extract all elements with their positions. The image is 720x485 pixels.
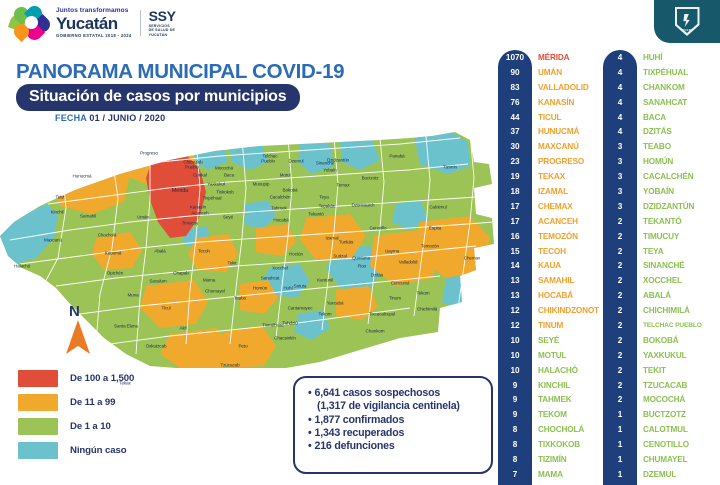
bullet-icon: •: [308, 414, 312, 426]
case-count: 1070: [498, 53, 532, 62]
case-count: 9: [498, 395, 532, 404]
case-count: 2: [603, 217, 637, 226]
case-count: 23: [498, 157, 532, 166]
case-count: 10: [498, 351, 532, 360]
map-label: Dzidzantún: [327, 158, 349, 163]
list-item: 4DZITÁS: [603, 124, 713, 139]
municipality-name: TEYA: [643, 247, 663, 256]
municipality-name: DZEMUL: [643, 470, 676, 479]
north-arrow-indicator: N: [63, 303, 93, 355]
case-count: 13: [498, 276, 532, 285]
map-label: Dzemul: [289, 159, 304, 164]
bullet-icon: •: [308, 387, 312, 399]
list-item: 2BOKOBÁ: [603, 333, 713, 348]
map-label: Dzoncauich: [351, 203, 374, 208]
list-item: 2TEKANTÓ: [603, 214, 713, 229]
page-title: PANORAMA MUNICIPAL COVID-19: [16, 60, 344, 84]
list-item: 2CHICHIMILÁ: [603, 303, 713, 318]
municipality-name: TINUM: [538, 321, 563, 330]
list-item: 1DZEMUL: [603, 467, 713, 482]
map-label: Hoctún: [289, 252, 303, 257]
gov-tab-label: GOBIERNO: [675, 28, 700, 32]
map-label: Yaxcabá: [327, 301, 344, 306]
map-label: Sacalum: [149, 279, 166, 284]
map-label: Maxcanú: [44, 238, 62, 243]
case-count: 2: [603, 306, 637, 315]
map-label: Pueblo: [185, 165, 199, 170]
map-label: Opichén: [107, 271, 123, 276]
case-count: 19: [498, 172, 532, 181]
case-count: 4: [603, 127, 637, 136]
legend-color-swatch: [18, 394, 58, 411]
legend-item: De 100 a 1,500: [18, 370, 134, 387]
case-count: 7: [498, 470, 532, 479]
map-label: Tahmek: [271, 206, 286, 211]
list-item: 4CHANKOM: [603, 80, 713, 95]
list-item: 76KANASÍN: [498, 95, 608, 110]
list-item: 12TINUM: [498, 318, 608, 333]
map-label: Temozón: [421, 244, 439, 249]
map-label: Panabá: [389, 154, 404, 159]
list-item: 1070MÉRIDA: [498, 50, 608, 65]
map-label: Chankom: [366, 329, 385, 334]
municipality-name: DZIDZANTÚN: [643, 202, 694, 211]
list-item: 19TEKAX: [498, 169, 608, 184]
map-label: Umán: [137, 215, 149, 220]
case-count: 10: [498, 336, 532, 345]
municipality-name: HOMÚN: [643, 157, 673, 166]
map-label: Seyé: [223, 215, 233, 220]
municipality-name: MAMA: [538, 470, 563, 479]
municipality-name: KANASÍN: [538, 98, 574, 107]
legend-label: De 11 a 99: [70, 397, 115, 408]
list-item: 8CHOCHOLÁ: [498, 422, 608, 437]
header-bar: Juntos transformamos Yucatán GOBIERNO ES…: [0, 0, 720, 45]
map-label: Progreso: [140, 151, 158, 156]
case-count: 4: [603, 98, 637, 107]
list-item: 1CALOTMUL: [603, 422, 713, 437]
list-item: 4TIXPÉHUAL: [603, 65, 713, 80]
list-item: 10MOTUL: [498, 348, 608, 363]
map-label: Tepakán: [319, 204, 336, 209]
list-item: 4BACA: [603, 110, 713, 125]
municipality-name: MOTUL: [538, 351, 566, 360]
case-count: 4: [603, 83, 637, 92]
map-label: Xocchel: [272, 266, 288, 271]
municipality-name: KAUA: [538, 261, 561, 270]
municipality-name: BUCTZOTZ: [643, 410, 686, 419]
list-item: 10HALACHÓ: [498, 363, 608, 378]
logo-state-name: Yucatán: [56, 15, 132, 32]
map-label: Tixcacalcupul: [369, 312, 395, 317]
map-label: Tecoh: [198, 249, 210, 254]
bullet-icon: •: [308, 440, 312, 452]
map-label: Quintana: [352, 256, 370, 261]
case-count: 2: [603, 395, 637, 404]
case-count: 2: [603, 276, 637, 285]
map-label: Buctzotz: [362, 176, 379, 181]
municipality-name: TIXKOKOB: [538, 440, 580, 449]
map-label: Tzucacab: [220, 363, 239, 368]
municipality-name: TEMOZÓN: [538, 232, 578, 241]
map-label: Samahil: [80, 214, 96, 219]
map-label: Kantunil: [317, 278, 333, 283]
list-item: 14KAUA: [498, 258, 608, 273]
list-item: 3DZIDZANTÚN: [603, 199, 713, 214]
map-label: Hunucmá: [73, 174, 92, 179]
map-label: Tizimín: [443, 165, 457, 170]
stat-confirmed: •1,877 confirmados: [308, 414, 481, 427]
list-item: 90UMÁN: [498, 65, 608, 80]
map-label: Roo: [358, 264, 366, 269]
list-item: 17CHEMAX: [498, 199, 608, 214]
compass-arrow-icon: [66, 320, 90, 354]
map-label: Sotuta: [294, 284, 307, 289]
logo-divider: [140, 10, 141, 36]
municipality-list-column-1: 1070MÉRIDA90UMÁN83VALLADOLID76KANASÍN44T…: [498, 50, 608, 485]
municipality-name: CHEMAX: [538, 202, 573, 211]
ssy-logo: SSY SERVICIOS DE SALUD DE YUCATÁN: [149, 9, 176, 38]
legend-color-swatch: [18, 442, 58, 459]
list-item: 12CHIKINDZONOT: [498, 303, 608, 318]
municipality-name: TAHMEK: [538, 395, 572, 404]
case-count: 3: [603, 202, 637, 211]
municipality-name: CHUMAYEL: [643, 455, 687, 464]
case-count: 12: [498, 306, 532, 315]
municipality-name: TIZIMÍN: [538, 455, 567, 464]
map-label: Baca: [224, 173, 234, 178]
map-label: Cacalchén: [270, 195, 291, 200]
map-label: Tixpéhual: [203, 196, 222, 201]
map-label: Tahdziú: [282, 321, 297, 326]
case-count: 1: [603, 470, 637, 479]
logo-administration-period: GOBIERNO ESTATAL 2018 - 2024: [56, 34, 132, 38]
case-count: 44: [498, 113, 532, 122]
case-count: 1: [603, 425, 637, 434]
map-label: Tunkás: [339, 240, 353, 245]
map-label: Muna: [127, 293, 138, 298]
municipality-name: PROGRESO: [538, 157, 584, 166]
map-label: Tixméhuac: [262, 323, 283, 328]
case-count: 2: [603, 351, 637, 360]
map-label: Peto: [238, 344, 247, 349]
list-item: 2SINANCHÉ: [603, 258, 713, 273]
list-item: 1BUCTZOTZ: [603, 407, 713, 422]
map-label: Bokobá: [283, 188, 298, 193]
case-count: 9: [498, 410, 532, 419]
map-label: Tinum: [389, 296, 401, 301]
list-item: 23PROGRESO: [498, 154, 608, 169]
map-label: Pueblo: [261, 159, 275, 164]
list-item: 2TEKIT: [603, 363, 713, 378]
municipality-name: TICUL: [538, 113, 561, 122]
legend-label: De 100 a 1,500: [70, 373, 134, 384]
map-label: Tixkokob: [216, 190, 233, 195]
map-label: Halachó: [14, 264, 30, 269]
map-label: Akil: [179, 326, 186, 331]
list-item: 2MOCOCHÁ: [603, 392, 713, 407]
list-item: 3TEABO: [603, 139, 713, 154]
municipality-name: HUNUCMÁ: [538, 127, 579, 136]
map-label: Uayma: [385, 249, 399, 254]
municipality-name: CALOTMUL: [643, 425, 688, 434]
municipality-name: CHOCHOLÁ: [538, 425, 584, 434]
case-count: 12: [498, 321, 532, 330]
municipality-name: DZITÁS: [643, 127, 672, 136]
municipality-name: ABALÁ: [643, 291, 671, 300]
case-count: 1: [603, 455, 637, 464]
map-label: Sudzal: [333, 254, 346, 259]
map-label: Mocochá: [215, 166, 233, 171]
case-count: 8: [498, 440, 532, 449]
map-label: Tekom: [318, 312, 331, 317]
ssy-acronym: SSY: [149, 9, 176, 23]
stat-deaths: •216 defunciones: [308, 440, 481, 453]
map-label: Huhí: [283, 286, 292, 291]
legend-color-swatch: [18, 418, 58, 435]
map-label: Kopomá: [105, 251, 122, 256]
municipality-name: SINANCHÉ: [643, 261, 685, 270]
case-count: 9: [498, 381, 532, 390]
municipality-name: TEKANTÓ: [643, 217, 682, 226]
municipality-name: MAXCANÚ: [538, 142, 579, 151]
case-count: 3: [603, 157, 637, 166]
map-label: Hocabá: [273, 218, 288, 223]
municipality-name: MÉRIDA: [538, 53, 569, 62]
case-count: 2: [603, 336, 637, 345]
legend-label: De 1 a 10: [70, 421, 111, 432]
list-item: 9TAHMEK: [498, 392, 608, 407]
list-item: 8TIZIMÍN: [498, 452, 608, 467]
stat-sentinel: (1,317 de vigilancia centinela): [308, 400, 481, 413]
map-label: Conkal: [193, 173, 207, 178]
legend-item: De 1 a 10: [18, 418, 134, 435]
list-item: 4HUHÍ: [603, 50, 713, 65]
list-item: 2TELCHAC PUEBLO: [603, 318, 713, 333]
municipality-name: BOKOBÁ: [643, 336, 679, 345]
municipality-name: ACANCEH: [538, 217, 578, 226]
map-label: Temax: [336, 183, 349, 188]
municipality-name: IZAMAL: [538, 187, 568, 196]
case-count: 2: [603, 381, 637, 390]
list-item: 3HOMÚN: [603, 154, 713, 169]
case-count: 4: [603, 53, 637, 62]
municipality-name: VALLADOLID: [538, 83, 589, 92]
case-count: 3: [603, 142, 637, 151]
map-label: Yobaín: [323, 168, 337, 173]
page-subtitle: Situación de casos por municipios: [16, 84, 300, 111]
case-count: 10: [498, 366, 532, 375]
list-item: 8TIXKOKOB: [498, 437, 608, 452]
map-label: Izamal: [326, 236, 339, 241]
map-label: Chocholá: [98, 233, 117, 238]
case-count: 4: [603, 113, 637, 122]
map-label: Chapab: [173, 271, 189, 276]
map-label: Chichimilá: [417, 307, 437, 312]
case-count: 15: [498, 247, 532, 256]
case-count: 37: [498, 127, 532, 136]
list-item: 30MAXCANÚ: [498, 139, 608, 154]
municipality-name: HUHÍ: [643, 53, 662, 62]
map-label: Tekom: [416, 291, 429, 296]
map-label: Oxkutzcab: [146, 344, 167, 349]
municipality-name: HOCABÁ: [538, 291, 573, 300]
list-item: 13HOCABÁ: [498, 288, 608, 303]
municipality-list-column-2: 4HUHÍ4TIXPÉHUAL4CHANKOM4SANAHCAT4BACA4DZ…: [603, 50, 713, 485]
case-count: 8: [498, 425, 532, 434]
case-count: 2: [603, 247, 637, 256]
list-item: 37HUNUCMÁ: [498, 124, 608, 139]
yucatan-government-logo: Juntos transformamos Yucatán GOBIERNO ES…: [14, 6, 176, 40]
pinwheel-icon: [14, 6, 50, 40]
shield-icon: GOBIERNO: [675, 7, 700, 36]
case-count: 3: [603, 187, 637, 196]
municipality-name: TELCHAC PUEBLO: [643, 322, 702, 329]
municipality-name: TIXPÉHUAL: [643, 68, 688, 77]
municipality-name: TEKOM: [538, 410, 567, 419]
list-item: 2ABALÁ: [603, 288, 713, 303]
list-item: 18IZAMAL: [498, 184, 608, 199]
case-count: 18: [498, 187, 532, 196]
list-item: 17ACANCEH: [498, 214, 608, 229]
map-label: Timucuy: [182, 221, 199, 226]
municipality-name: SEYÉ: [538, 336, 559, 345]
map-label: Muxupip: [253, 182, 270, 187]
list-item: 3YOBAÍN: [603, 184, 713, 199]
map-label: Kinchil: [51, 210, 64, 215]
map-label: Chemax: [464, 256, 481, 261]
list-rows-2: 4HUHÍ4TIXPÉHUAL4CHANKOM4SANAHCAT4BACA4DZ…: [603, 50, 713, 485]
list-item: 3CACALCHÉN: [603, 169, 713, 184]
municipality-name: XOCCHEL: [643, 276, 682, 285]
case-count: 17: [498, 217, 532, 226]
municipality-name: TIMUCUY: [643, 232, 679, 241]
ssy-line-3: YUCATÁN: [149, 34, 176, 38]
municipality-name: CHANKOM: [643, 83, 685, 92]
list-item: 16TEMOZÓN: [498, 229, 608, 244]
shield-emblem-icon: [683, 14, 692, 27]
summary-statistics-box: •6,641 casos sospechosos (1,317 de vigil…: [293, 376, 493, 474]
map-label: Chumayel: [205, 289, 225, 294]
list-item: 2XOCCHEL: [603, 273, 713, 288]
municipality-name: TEKIT: [643, 366, 666, 375]
municipality-name: SANAHCAT: [643, 98, 687, 107]
map-label: Kanasín: [190, 205, 206, 210]
case-count: 30: [498, 142, 532, 151]
municipality-name: BACA: [643, 113, 666, 122]
case-count: 14: [498, 261, 532, 270]
list-item: 9TEKOM: [498, 407, 608, 422]
list-item: 2TZUCACAB: [603, 378, 713, 393]
map-label: Santa Elena: [114, 324, 138, 329]
municipality-name: CACALCHÉN: [643, 172, 694, 181]
list-item: 10SEYÉ: [498, 333, 608, 348]
case-count: 2: [603, 291, 637, 300]
list-item: 4SANAHCAT: [603, 95, 713, 110]
case-count: 4: [603, 68, 637, 77]
case-count: 76: [498, 98, 532, 107]
municipality-name: MOCOCHÁ: [643, 395, 685, 404]
case-count: 17: [498, 202, 532, 211]
municipality-name: SAMAHIL: [538, 276, 574, 285]
map-legend: De 100 a 1,500De 11 a 99De 1 a 10Ningún …: [18, 370, 134, 466]
map-label: Tekit: [228, 261, 237, 266]
municipality-name: CHICHIMILÁ: [643, 306, 690, 315]
stat-suspected: •6,641 casos sospechosos: [308, 387, 481, 400]
list-item: 9KINCHIL: [498, 378, 608, 393]
stat-recovered: •1,343 recuperados: [308, 427, 481, 440]
legend-item: Ningún caso: [18, 442, 134, 459]
case-count: 16: [498, 232, 532, 241]
case-count: 83: [498, 83, 532, 92]
map-label: Dzitás: [371, 273, 383, 278]
municipality-name: TEABO: [643, 142, 671, 151]
map-label: Teya: [319, 195, 328, 200]
bullet-icon: •: [308, 427, 312, 439]
case-count: 13: [498, 291, 532, 300]
map-label: Chacsinkín: [274, 336, 296, 341]
municipality-name: UMÁN: [538, 68, 562, 77]
map-label: Espita: [429, 226, 441, 231]
map-label: Cenotillo: [370, 226, 387, 231]
map-label: Cuncunul: [391, 281, 410, 286]
case-count: 2: [603, 366, 637, 375]
map-label: Abalá: [154, 249, 165, 254]
municipality-name: CHIKINDZONOT: [538, 306, 599, 315]
case-count: 1: [603, 410, 637, 419]
list-item: 1CENOTILLO: [603, 437, 713, 452]
map-label: Homún: [253, 286, 267, 291]
map-label: Tekantó: [308, 212, 323, 217]
case-count: 2: [603, 261, 637, 270]
list-item: 13SAMAHIL: [498, 273, 608, 288]
map-label: Sanahcat: [261, 276, 280, 281]
municipality-name: TECOH: [538, 247, 566, 256]
list-item: 1CHUMAYEL: [603, 452, 713, 467]
municipality-name: HALACHÓ: [538, 366, 578, 375]
map-label: Teabo: [234, 296, 246, 301]
map-label: Acanceh: [191, 211, 208, 216]
legend-item: De 11 a 99: [18, 394, 134, 411]
government-seal-tab: GOBIERNO: [654, 0, 720, 43]
municipality-name: KINCHIL: [538, 381, 570, 390]
case-count: 2: [603, 321, 637, 330]
municipality-name: TEKAX: [538, 172, 565, 181]
list-item: 44TICUL: [498, 110, 608, 125]
list-item: 2YAXKUKUL: [603, 348, 713, 363]
map-label: Mama: [203, 278, 215, 283]
map-label: Motul: [280, 173, 291, 178]
list-item: 7MAMA: [498, 467, 608, 482]
municipality-name: YAXKUKUL: [643, 351, 687, 360]
map-label: Tetiz: [56, 195, 65, 200]
map-label: Valladolid: [399, 260, 418, 265]
legend-label: Ningún caso: [70, 445, 126, 456]
case-count: 90: [498, 68, 532, 77]
list-item: 2TIMUCUY: [603, 229, 713, 244]
case-count: 3: [603, 172, 637, 181]
municipality-name: CENOTILLO: [643, 440, 689, 449]
case-count: 1: [603, 440, 637, 449]
map-label: Cantamayec: [288, 306, 313, 311]
list-item: 83VALLADOLID: [498, 80, 608, 95]
case-count: 2: [603, 232, 637, 241]
municipality-name: TZUCACAB: [643, 381, 687, 390]
legend-color-swatch: [18, 370, 58, 387]
municipality-name: YOBAÍN: [643, 187, 674, 196]
list-item: 15TECOH: [498, 244, 608, 259]
map-label: Ticul: [161, 306, 170, 311]
